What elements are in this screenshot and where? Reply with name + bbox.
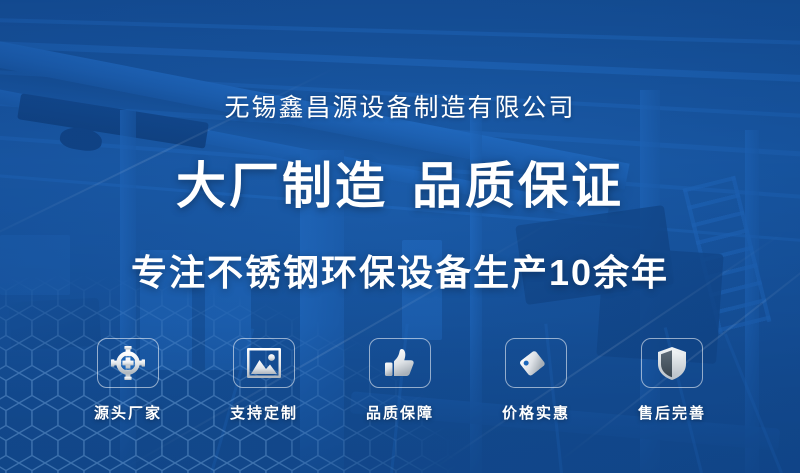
crosshair-target-icon bbox=[111, 346, 145, 380]
picture-image-icon bbox=[247, 348, 281, 378]
feature-icon-frame bbox=[641, 338, 703, 388]
company-name: 无锡鑫昌源设备制造有限公司 bbox=[224, 88, 575, 124]
feature-item-customization[interactable]: 支持定制 bbox=[211, 338, 317, 423]
feature-item-after-sales[interactable]: 售后完善 bbox=[619, 338, 725, 423]
feature-label: 价格实惠 bbox=[502, 402, 570, 423]
headline: 大厂制造品质保证 bbox=[176, 146, 624, 218]
feature-icon-frame bbox=[369, 338, 431, 388]
feature-icon-frame bbox=[233, 338, 295, 388]
banner-content: 无锡鑫昌源设备制造有限公司 大厂制造品质保证 专注不锈钢环保设备生产10余年 bbox=[0, 0, 800, 473]
feature-item-price[interactable]: 价格实惠 bbox=[483, 338, 589, 423]
feature-item-source-factory[interactable]: 源头厂家 bbox=[75, 338, 181, 423]
subheadline: 专注不锈钢环保设备生产10余年 bbox=[131, 244, 669, 296]
feature-list: 源头厂家 bbox=[75, 338, 725, 423]
shield-icon bbox=[657, 346, 687, 380]
price-tag-icon bbox=[520, 347, 552, 379]
feature-icon-frame bbox=[97, 338, 159, 388]
thumbs-up-icon bbox=[384, 347, 416, 379]
feature-label: 源头厂家 bbox=[94, 402, 162, 423]
headline-part-2: 品质保证 bbox=[412, 158, 624, 214]
feature-item-quality[interactable]: 品质保障 bbox=[347, 338, 453, 423]
feature-label: 售后完善 bbox=[638, 402, 706, 423]
feature-label: 品质保障 bbox=[366, 402, 434, 423]
feature-label: 支持定制 bbox=[230, 402, 298, 423]
promo-banner: 无锡鑫昌源设备制造有限公司 大厂制造品质保证 专注不锈钢环保设备生产10余年 bbox=[0, 0, 800, 473]
feature-icon-frame bbox=[505, 338, 567, 388]
headline-part-1: 大厂制造 bbox=[176, 158, 388, 214]
